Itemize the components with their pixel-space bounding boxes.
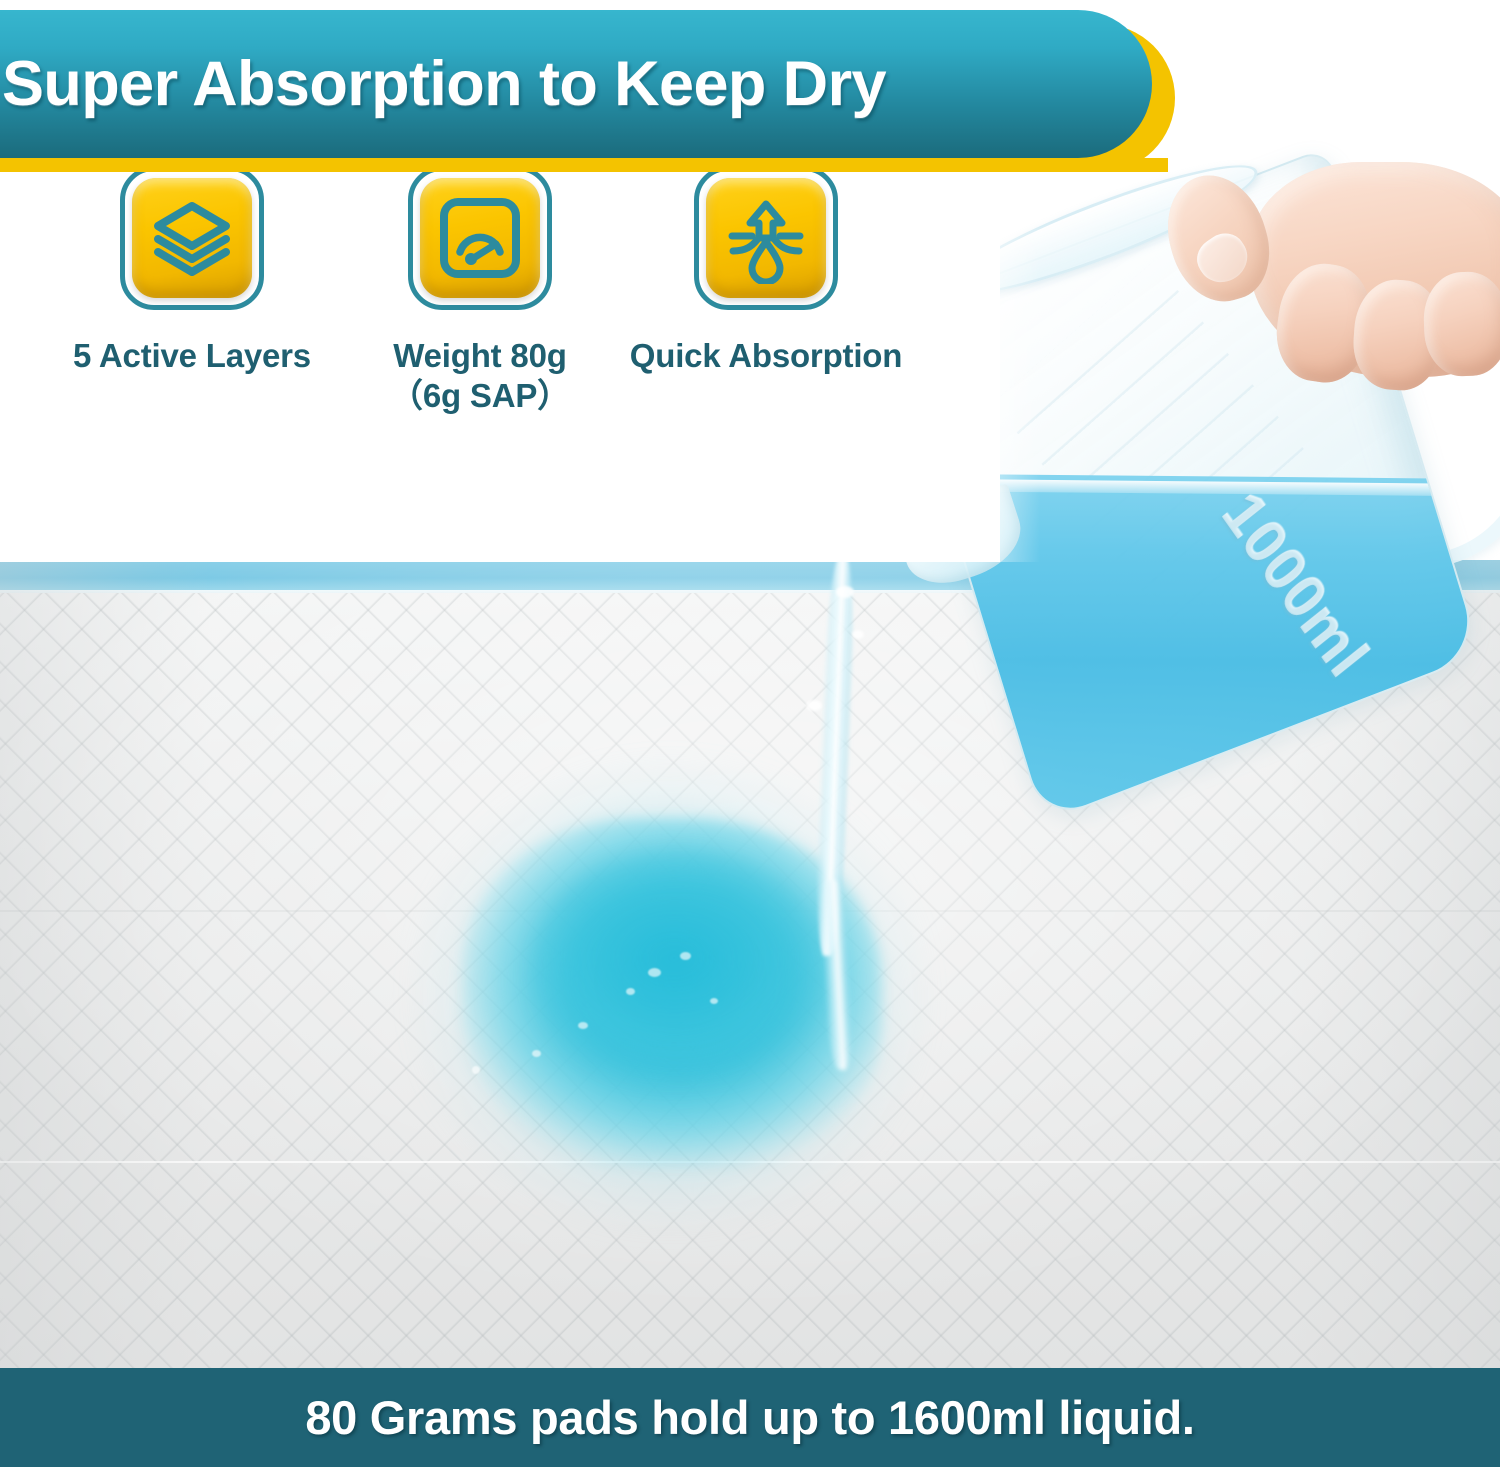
gauge-icon [434, 192, 526, 284]
footer-bar: 80 Grams pads hold up to 1600ml liquid. [0, 1368, 1500, 1467]
feature-label-main: 5 Active Layers [73, 337, 311, 374]
pool-highlight [530, 850, 830, 1090]
feature-item-layers[interactable]: 5 Active Layers [42, 166, 342, 417]
page-title: Super Absorption to Keep Dry [2, 48, 886, 120]
bubble [626, 988, 635, 995]
feature-item-weight[interactable]: Weight 80g （6g SAP） [330, 166, 630, 417]
thumbnail [1189, 225, 1256, 291]
hand [1158, 168, 1500, 428]
finger [1422, 271, 1500, 378]
layers-icon-ring [120, 166, 264, 310]
feature-label: 5 Active Layers [73, 336, 311, 376]
bubble [648, 968, 661, 977]
bubble [710, 998, 718, 1004]
quick-absorption-icon-tile [706, 178, 826, 298]
gauge-icon-ring [408, 166, 552, 310]
splash-droplet [852, 630, 864, 639]
layers-icon-tile [132, 178, 252, 298]
gauge-icon-tile [420, 178, 540, 298]
splash-droplet [806, 700, 822, 711]
bubble [578, 1022, 588, 1029]
feature-label: Quick Absorption [630, 336, 902, 376]
feature-label-sub: （6g SAP） [390, 376, 570, 416]
quick-absorption-icon-ring [694, 166, 838, 310]
product-feature-image: 1000ml [0, 0, 1500, 1467]
quick-absorption-icon [720, 192, 812, 284]
layers-icon [146, 192, 238, 284]
bubble [472, 1066, 480, 1074]
feature-item-absorption[interactable]: Quick Absorption [616, 166, 916, 417]
feature-label-main: Quick Absorption [630, 337, 902, 374]
bubble [680, 952, 691, 960]
splash-droplet [836, 586, 854, 598]
liquid-absorption-spot [380, 730, 960, 1260]
header-banner: Super Absorption to Keep Dry [0, 10, 1152, 158]
feature-label: Weight 80g （6g SAP） [390, 336, 570, 417]
footer-text: 80 Grams pads hold up to 1600ml liquid. [305, 1390, 1194, 1445]
feature-label-main: Weight 80g [393, 337, 566, 374]
bubble [532, 1050, 541, 1057]
feature-list: 5 Active Layers Weight 80g （6g SAP） [0, 166, 960, 417]
